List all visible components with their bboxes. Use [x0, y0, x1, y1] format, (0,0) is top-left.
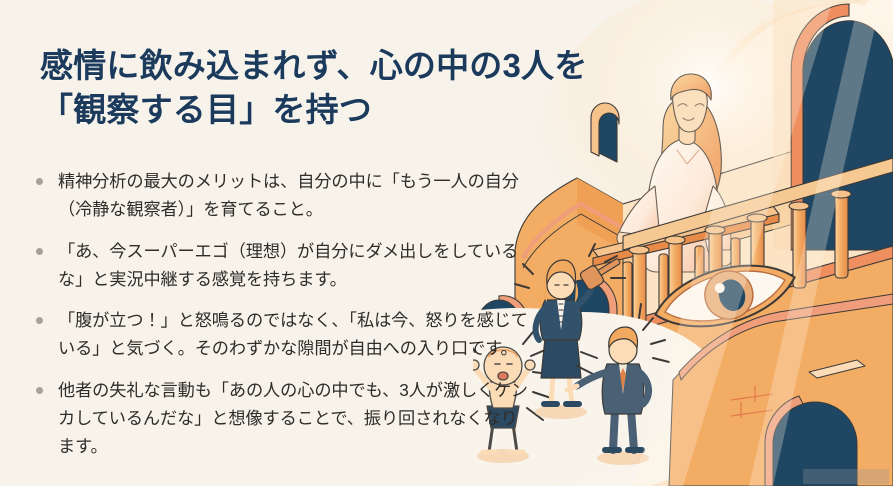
list-item: 精神分析の最大のメリットは、自分の中に「もう一人の自分（冷静な観察者）」を育てる…: [34, 168, 534, 224]
slide-root: 感情に飲み込まれず、心の中の3人を 「観察する目」を持つ 精神分析の最大のメリッ…: [0, 0, 893, 486]
list-item-text: 精神分析の最大のメリットは、自分の中に「もう一人の自分（冷静な観察者）」を育てる…: [58, 168, 534, 224]
page-title-line-1: 感情に飲み込まれず、心の中の3人を: [40, 44, 560, 88]
bullet-dot-icon: [36, 317, 43, 324]
bullet-dot-icon: [36, 248, 43, 255]
list-item: 「あ、今スーパーエゴ（理想）が自分にダメ出しをしているな」と実況中継する感覚を持…: [34, 238, 534, 294]
bullet-list: 精神分析の最大のメリットは、自分の中に「もう一人の自分（冷静な観察者）」を育てる…: [34, 168, 534, 461]
bullet-dot-icon: [36, 178, 43, 185]
bullet-dot-icon: [36, 387, 43, 394]
page-title: 感情に飲み込まれず、心の中の3人を 「観察する目」を持つ: [40, 44, 560, 131]
page-title-line-2: 「観察する目」を持つ: [40, 88, 560, 132]
watermark: [803, 469, 889, 484]
list-item-text: 「あ、今スーパーエゴ（理想）が自分にダメ出しをしているな」と実況中継する感覚を持…: [58, 238, 534, 294]
list-item-text: 「腹が立つ！」と怒鳴るのではなく、「私は今、怒りを感じている」と気づく。そのわず…: [58, 307, 534, 363]
list-item: 他者の失礼な言動も「あの人の心の中でも、3人が激しくケンカしているんだな」と想像…: [34, 377, 534, 461]
list-item: 「腹が立つ！」と怒鳴るのではなく、「私は今、怒りを感じている」と気づく。そのわず…: [34, 307, 534, 363]
list-item-text: 他者の失礼な言動も「あの人の心の中でも、3人が激しくケンカしているんだな」と想像…: [58, 377, 534, 461]
text-column: 感情に飲み込まれず、心の中の3人を 「観察する目」を持つ 精神分析の最大のメリッ…: [0, 0, 560, 486]
